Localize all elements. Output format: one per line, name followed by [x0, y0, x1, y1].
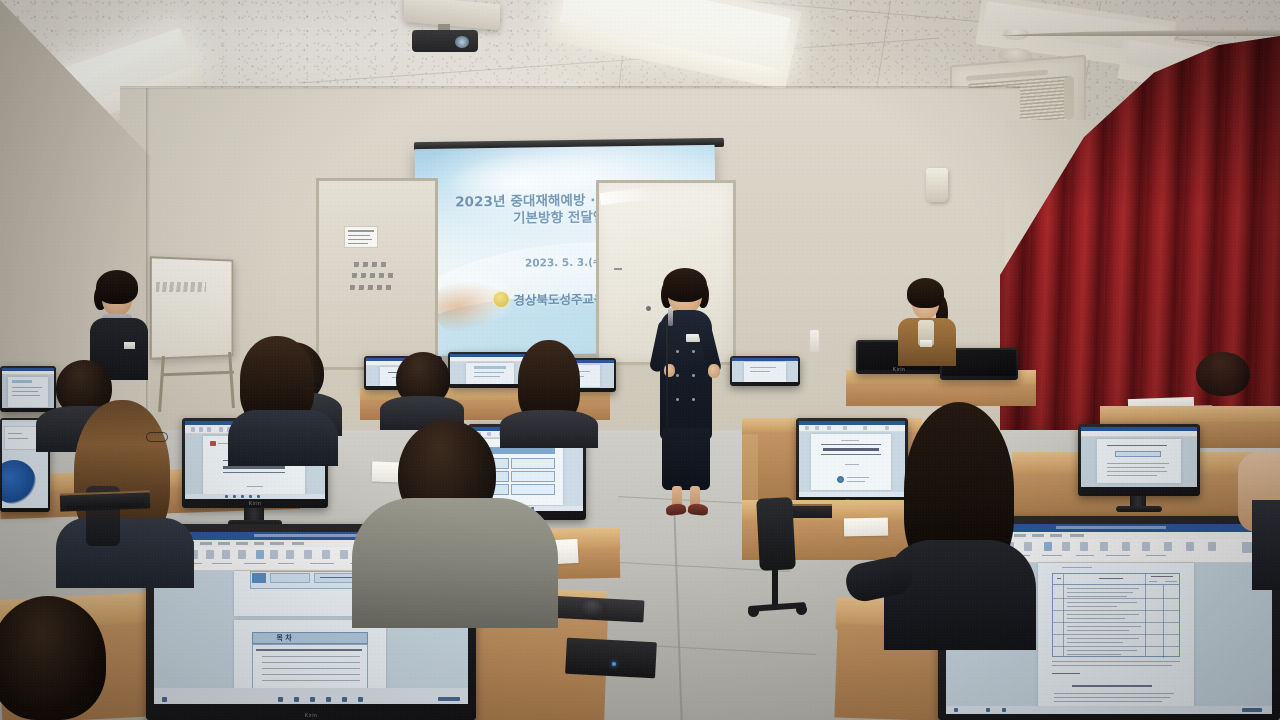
desktop-pc-tower[interactable]	[565, 638, 657, 679]
doc-title-text	[223, 466, 285, 469]
slide-table-cell	[511, 471, 555, 482]
slide-table-cell	[511, 458, 555, 469]
doc-footer-text	[1054, 693, 1174, 694]
whiteboard-writing	[156, 282, 206, 292]
dress-button	[692, 350, 695, 353]
ribbon-icon[interactable]	[222, 550, 230, 559]
taskbar-icon[interactable]	[326, 697, 331, 702]
projector-lens-icon	[455, 36, 469, 48]
doc-banner-cell	[270, 573, 310, 583]
name-badge	[124, 342, 135, 349]
ribbon-icon[interactable]	[1164, 542, 1172, 551]
ribbon-icon[interactable]	[206, 550, 214, 559]
table-cell-text	[1067, 650, 1137, 651]
table-cell-text	[1067, 654, 1121, 655]
slide-table-cell	[511, 484, 555, 495]
doc-date-text	[845, 464, 859, 465]
hand-right	[708, 364, 720, 378]
doc-org-logo-icon	[837, 476, 844, 483]
monitor-brand-label: Kirin	[856, 367, 942, 373]
taskbar-clock[interactable]	[1242, 708, 1262, 712]
shoe-right	[688, 503, 709, 516]
table-cell-text	[1067, 592, 1133, 593]
taskbar[interactable]	[946, 706, 1272, 714]
word-document-title	[1056, 526, 1166, 529]
ribbon-icon	[863, 426, 867, 430]
table-col-header	[1099, 578, 1123, 579]
ribbon-tab[interactable]	[1070, 534, 1084, 537]
handwriting-line	[354, 262, 388, 267]
doc-text-line	[12, 391, 38, 392]
monitor-mid-right: Kirin	[796, 418, 908, 506]
word-document-page	[811, 434, 891, 490]
handwriting-line	[352, 273, 396, 278]
notice-text-line	[348, 230, 374, 232]
table-cell-text	[1067, 630, 1129, 631]
hand-sanitizer-bottle	[810, 330, 819, 352]
doc-title-underline	[821, 444, 881, 445]
taskbar-icon[interactable]	[225, 495, 228, 498]
door-notice-paper	[344, 226, 378, 248]
hair	[907, 278, 944, 308]
microphone-icon	[668, 308, 673, 326]
ribbon-icon[interactable]	[304, 550, 312, 559]
doc-text-line	[12, 395, 40, 396]
ribbon-label	[1106, 555, 1130, 556]
table-col-header	[1151, 576, 1173, 577]
doc-text-line	[8, 433, 22, 434]
dress-button	[676, 350, 679, 353]
ribbon-tab[interactable]	[1050, 534, 1062, 537]
ribbon-tab[interactable]	[236, 542, 248, 545]
taskbar-start-icon[interactable]	[954, 708, 958, 712]
ribbon-tab[interactable]	[200, 542, 212, 545]
wall-speaker	[926, 168, 948, 202]
handout-paper	[844, 518, 888, 537]
table-cell-text	[1067, 618, 1125, 619]
doc-text-line	[1107, 445, 1167, 446]
taskbar-icon[interactable]	[278, 697, 283, 702]
ribbon-icon	[805, 426, 809, 430]
doc-logo-icon	[210, 441, 216, 446]
name-badge	[920, 340, 932, 347]
word-canvas	[450, 362, 528, 384]
notice-text-line	[348, 239, 372, 240]
ribbon-label	[212, 563, 232, 564]
doc-text-line	[12, 387, 42, 388]
doc-section-label	[1052, 673, 1080, 674]
doc-org-text	[847, 481, 865, 482]
slide-table-header	[489, 447, 555, 454]
toc-item	[262, 680, 360, 681]
monitor-screen	[1081, 427, 1197, 487]
chair-wheel	[748, 606, 759, 617]
ribbon-icon	[199, 427, 203, 432]
smoke-detector	[1003, 28, 1029, 40]
presenter-with-microphone	[646, 268, 738, 518]
skirt	[662, 428, 710, 490]
staff-seated-right	[892, 278, 962, 364]
attendee-glasses-icon	[302, 380, 322, 389]
doc-text-line	[1107, 467, 1165, 468]
table-row	[1053, 599, 1179, 611]
ribbon-label	[310, 563, 334, 564]
word-document-page	[1097, 439, 1181, 483]
monitor-far-right	[1078, 424, 1200, 496]
attendee-torso	[1252, 500, 1280, 590]
ribbon-icon[interactable]	[1100, 542, 1108, 551]
ribbon-icon	[487, 432, 491, 436]
toc-item	[262, 662, 360, 663]
ribbon-icon[interactable]	[1186, 542, 1194, 551]
doc-date-text	[247, 486, 263, 487]
table-cell-text	[1067, 596, 1127, 597]
desktop-pc-tower[interactable]	[66, 493, 144, 510]
mobile-whiteboard	[150, 256, 234, 360]
doc-text-line	[8, 438, 28, 439]
ribbon-icon	[815, 426, 819, 430]
doc-title-text	[823, 448, 879, 451]
ribbon-icon	[885, 426, 889, 430]
notice-text-line	[348, 243, 368, 244]
taskbar-icon[interactable]	[310, 697, 315, 702]
word-document-page	[8, 377, 48, 407]
ribbon-icon[interactable]	[256, 550, 264, 559]
toc-item	[256, 649, 362, 651]
monitor-far-left-top	[0, 366, 56, 412]
dress-button	[692, 398, 695, 401]
table-cell-text	[1067, 642, 1123, 643]
whiteboard-mark	[614, 268, 622, 270]
ribbon-tab[interactable]	[254, 542, 264, 545]
monitor-brand-label: Kirin	[146, 713, 476, 719]
doc-highlight-box	[1115, 451, 1161, 457]
taskbar[interactable]	[799, 492, 905, 497]
toc-item	[262, 674, 360, 675]
doc-org-text	[847, 477, 869, 478]
hair	[96, 270, 138, 304]
doc-text-line	[474, 372, 504, 373]
table-row	[1053, 585, 1179, 599]
taskbar[interactable]	[185, 494, 325, 499]
handwriting-line	[350, 285, 392, 290]
table-row	[1053, 635, 1179, 647]
checklist-table	[1052, 573, 1180, 657]
hair	[663, 268, 707, 302]
computer-mouse[interactable]	[581, 599, 606, 617]
table-row	[1053, 611, 1179, 623]
doc-text-line	[750, 371, 770, 372]
taskbar-icon[interactable]	[1002, 708, 1006, 712]
doc-title-underline	[821, 454, 881, 455]
door-handwriting	[352, 262, 412, 296]
ribbon-label	[278, 563, 294, 564]
word-ribbon	[799, 425, 905, 432]
table-cell-text	[1067, 602, 1137, 603]
taskbar-icon[interactable]	[249, 495, 252, 498]
classroom-photo-scene: 2023년 중대재해예방 · 산업안전보건 기본방향 전달연수 2023. 5.…	[0, 0, 1280, 720]
ribbon-icon	[219, 427, 223, 432]
toc-heading-label: 목 차	[252, 632, 316, 644]
word-canvas	[1081, 437, 1197, 483]
toc-item	[262, 668, 360, 669]
chair-wheel	[796, 604, 807, 615]
ribbon-label	[1146, 555, 1166, 556]
pc-power-led-icon	[612, 662, 616, 666]
doc-caption	[1062, 567, 1092, 568]
doc-text-line	[750, 367, 776, 368]
attendee-torso	[228, 410, 338, 466]
monitor-brand-label: Kirin	[182, 501, 328, 507]
taskbar-clock[interactable]	[438, 697, 460, 701]
taskbar-start-icon[interactable]	[162, 697, 167, 702]
monitor-screen	[799, 421, 905, 497]
doc-footer-text	[1054, 697, 1170, 698]
doc-footer-heading	[1072, 685, 1152, 687]
ribbon-icon	[843, 426, 847, 430]
table-row	[1053, 647, 1179, 658]
table-cell-text	[1067, 614, 1139, 615]
doc-footnote	[1052, 665, 1172, 666]
table-col-header	[1057, 578, 1061, 579]
doc-text-line	[1107, 475, 1157, 476]
ribbon-icon	[207, 427, 211, 432]
taskbar-icon[interactable]	[233, 495, 236, 498]
taskbar-icon[interactable]	[257, 495, 260, 498]
taskbar-icon[interactable]	[241, 495, 244, 498]
seated-attendee	[1196, 352, 1250, 396]
ceiling-speaker	[998, 48, 1032, 62]
ribbon-icon	[191, 427, 195, 432]
ribbon-icon[interactable]	[340, 550, 348, 559]
word-document-page	[744, 362, 786, 382]
ribbon-tab[interactable]	[1014, 534, 1026, 537]
monitor-back-far-right	[730, 356, 800, 386]
ribbon-icon[interactable]	[238, 550, 246, 559]
doc-text-line	[474, 376, 500, 377]
word-canvas	[2, 375, 54, 408]
ribbon-label	[1076, 555, 1094, 556]
ribbon-icon[interactable]	[1208, 542, 1216, 551]
toc-item	[262, 656, 360, 657]
taskbar-icon[interactable]	[294, 697, 299, 702]
microphone-cable	[666, 324, 668, 482]
ribbon-tab[interactable]	[292, 542, 304, 545]
word-canvas	[799, 432, 905, 492]
ribbon-icon[interactable]	[1044, 542, 1052, 551]
word-canvas	[732, 361, 798, 382]
doc-header-bar	[12, 380, 32, 383]
seated-attendee	[0, 596, 106, 720]
office-chair[interactable]	[756, 497, 796, 571]
taskbar-icon[interactable]	[342, 697, 347, 702]
attendee-torso	[352, 498, 558, 628]
doc-footer-text	[1054, 701, 1162, 702]
table-cell-text	[1067, 606, 1117, 607]
taskbar-icon[interactable]	[986, 708, 990, 712]
doc-text-line	[1107, 471, 1167, 472]
attendee-shoulders	[500, 410, 598, 448]
monitor-stand-base	[1116, 506, 1162, 512]
attendee-torso	[56, 518, 194, 588]
doc-header-bar	[474, 366, 506, 369]
doc-label	[841, 440, 859, 441]
table-col-header	[1165, 581, 1177, 582]
ribbon-tab[interactable]	[1032, 534, 1044, 537]
word-document-page: 목 차	[234, 620, 386, 697]
dress-button	[676, 374, 679, 377]
table-cell-text	[1067, 638, 1139, 639]
ribbon-icon[interactable]	[286, 550, 294, 559]
word-document-page	[466, 363, 514, 384]
doc-banner-fill	[252, 573, 266, 583]
monitor-screen	[2, 368, 54, 408]
doc-title-underline	[223, 472, 285, 473]
ribbon-label	[244, 563, 266, 564]
taskbar[interactable]	[154, 694, 468, 704]
wall-ceiling-junction	[120, 86, 1020, 90]
ribbon-tab[interactable]	[218, 542, 230, 545]
ribbon-icon[interactable]	[1242, 542, 1252, 553]
ribbon-icon[interactable]	[1122, 542, 1130, 551]
ribbon-icon	[827, 426, 831, 430]
word-document-page	[1038, 563, 1194, 708]
ribbon-icon[interactable]	[1080, 542, 1088, 551]
windows-wallpaper-swirl	[2, 460, 36, 504]
doc-text-line	[1107, 463, 1169, 464]
ribbon-label	[1042, 555, 1062, 556]
dress-button	[676, 398, 679, 401]
taskbar-icon[interactable]	[358, 697, 363, 702]
shoe-left	[665, 503, 686, 516]
ac-vent-slot	[1064, 76, 1074, 121]
chair-post	[772, 566, 778, 608]
doc-footnote	[1052, 661, 1180, 662]
monitor-screen	[732, 358, 798, 382]
ribbon-icon[interactable]	[1142, 542, 1150, 551]
ribbon-tab[interactable]	[270, 542, 284, 545]
ribbon-icon[interactable]	[270, 550, 278, 559]
emblem-icon	[493, 292, 508, 307]
attendee-glasses-icon	[146, 432, 168, 442]
dress-button	[692, 374, 695, 377]
ribbon-icon[interactable]	[1062, 542, 1070, 551]
attendee-torso	[884, 540, 1036, 650]
table-row	[1053, 623, 1179, 635]
notice-text-line	[348, 235, 370, 236]
monitor-screen	[450, 354, 528, 384]
ribbon-icon[interactable]	[1024, 542, 1032, 551]
computer-desk-front	[846, 384, 1036, 406]
ribbon-icon[interactable]	[322, 550, 330, 559]
table-cell-text	[1067, 588, 1139, 589]
table-col-header	[1149, 581, 1157, 582]
table-cell-text	[1067, 626, 1141, 627]
